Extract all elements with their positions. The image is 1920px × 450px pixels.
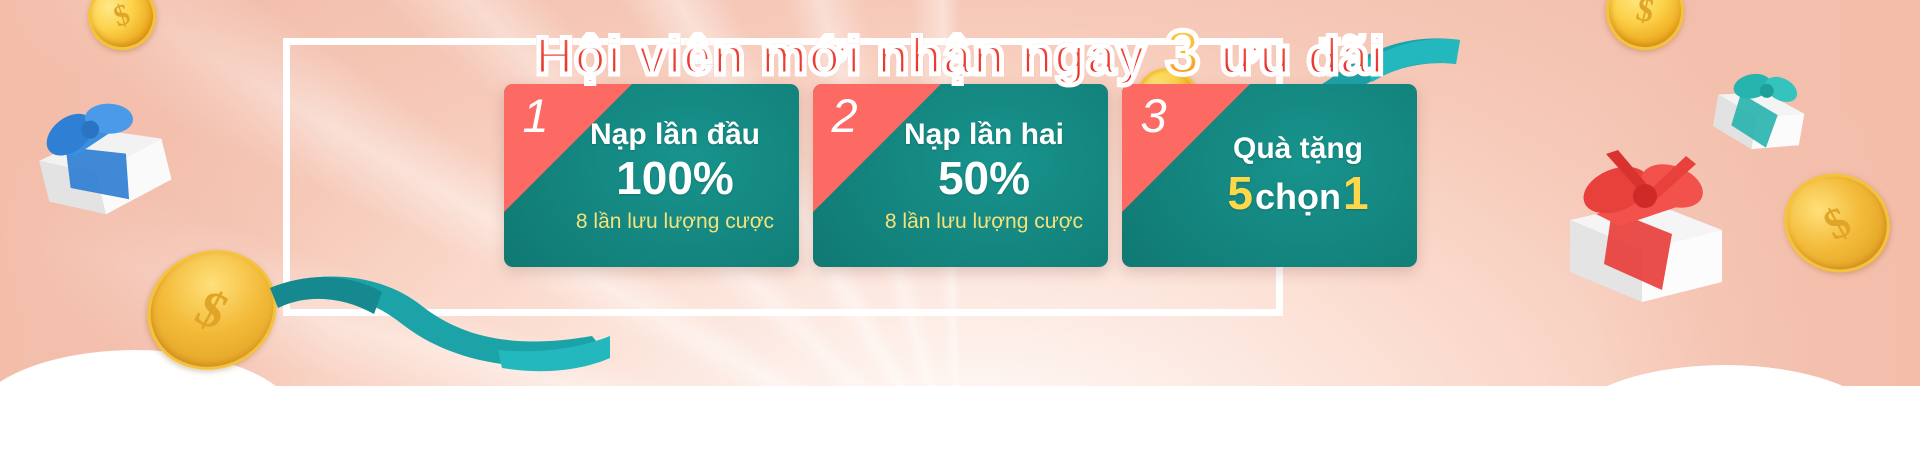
headline-part2: ưu đãi — [1205, 27, 1385, 86]
card-number: 3 — [1141, 92, 1167, 139]
card-value-number-first: 5 — [1227, 167, 1253, 220]
card-value: 100% — [616, 153, 734, 205]
headline: Hội viên mới nhận ngay 3 ưu đãi — [0, 18, 1920, 89]
card-value-number-second: 1 — [1343, 167, 1369, 220]
promo-card-2[interactable]: 2 Nạp lần hai 50% 8 lần lưu lượng cược — [813, 84, 1108, 267]
card-value: 50% — [938, 153, 1030, 205]
card-number: 2 — [832, 92, 858, 139]
promo-card-1[interactable]: 1 Nạp lần đầu 100% 8 lần lưu lượng cược — [504, 84, 799, 267]
card-title: Nạp lần hai — [904, 118, 1064, 151]
card-caption: 8 lần lưu lượng cược — [885, 210, 1083, 233]
card-number: 1 — [523, 92, 549, 139]
card-title: Quà tặng — [1233, 132, 1363, 165]
card-value-middle-word: chọn — [1255, 176, 1341, 217]
card-title: Nạp lần đầu — [590, 118, 760, 151]
promo-banner: $ $ $ — [0, 0, 1920, 450]
headline-part1: Hội viên mới nhận ngay — [535, 27, 1161, 86]
headline-highlight-number: 3 — [1162, 19, 1205, 88]
promo-card-3[interactable]: 3 Quà tặng 5 chọn 1 — [1122, 84, 1417, 267]
teal-ribbon-streamer-icon — [262, 262, 622, 382]
teal-ribbon-left — [262, 262, 622, 387]
card-value: 5 chọn 1 — [1227, 167, 1368, 220]
promo-card-list: 1 Nạp lần đầu 100% 8 lần lưu lượng cược … — [0, 84, 1920, 267]
card-caption: 8 lần lưu lượng cược — [576, 210, 774, 233]
